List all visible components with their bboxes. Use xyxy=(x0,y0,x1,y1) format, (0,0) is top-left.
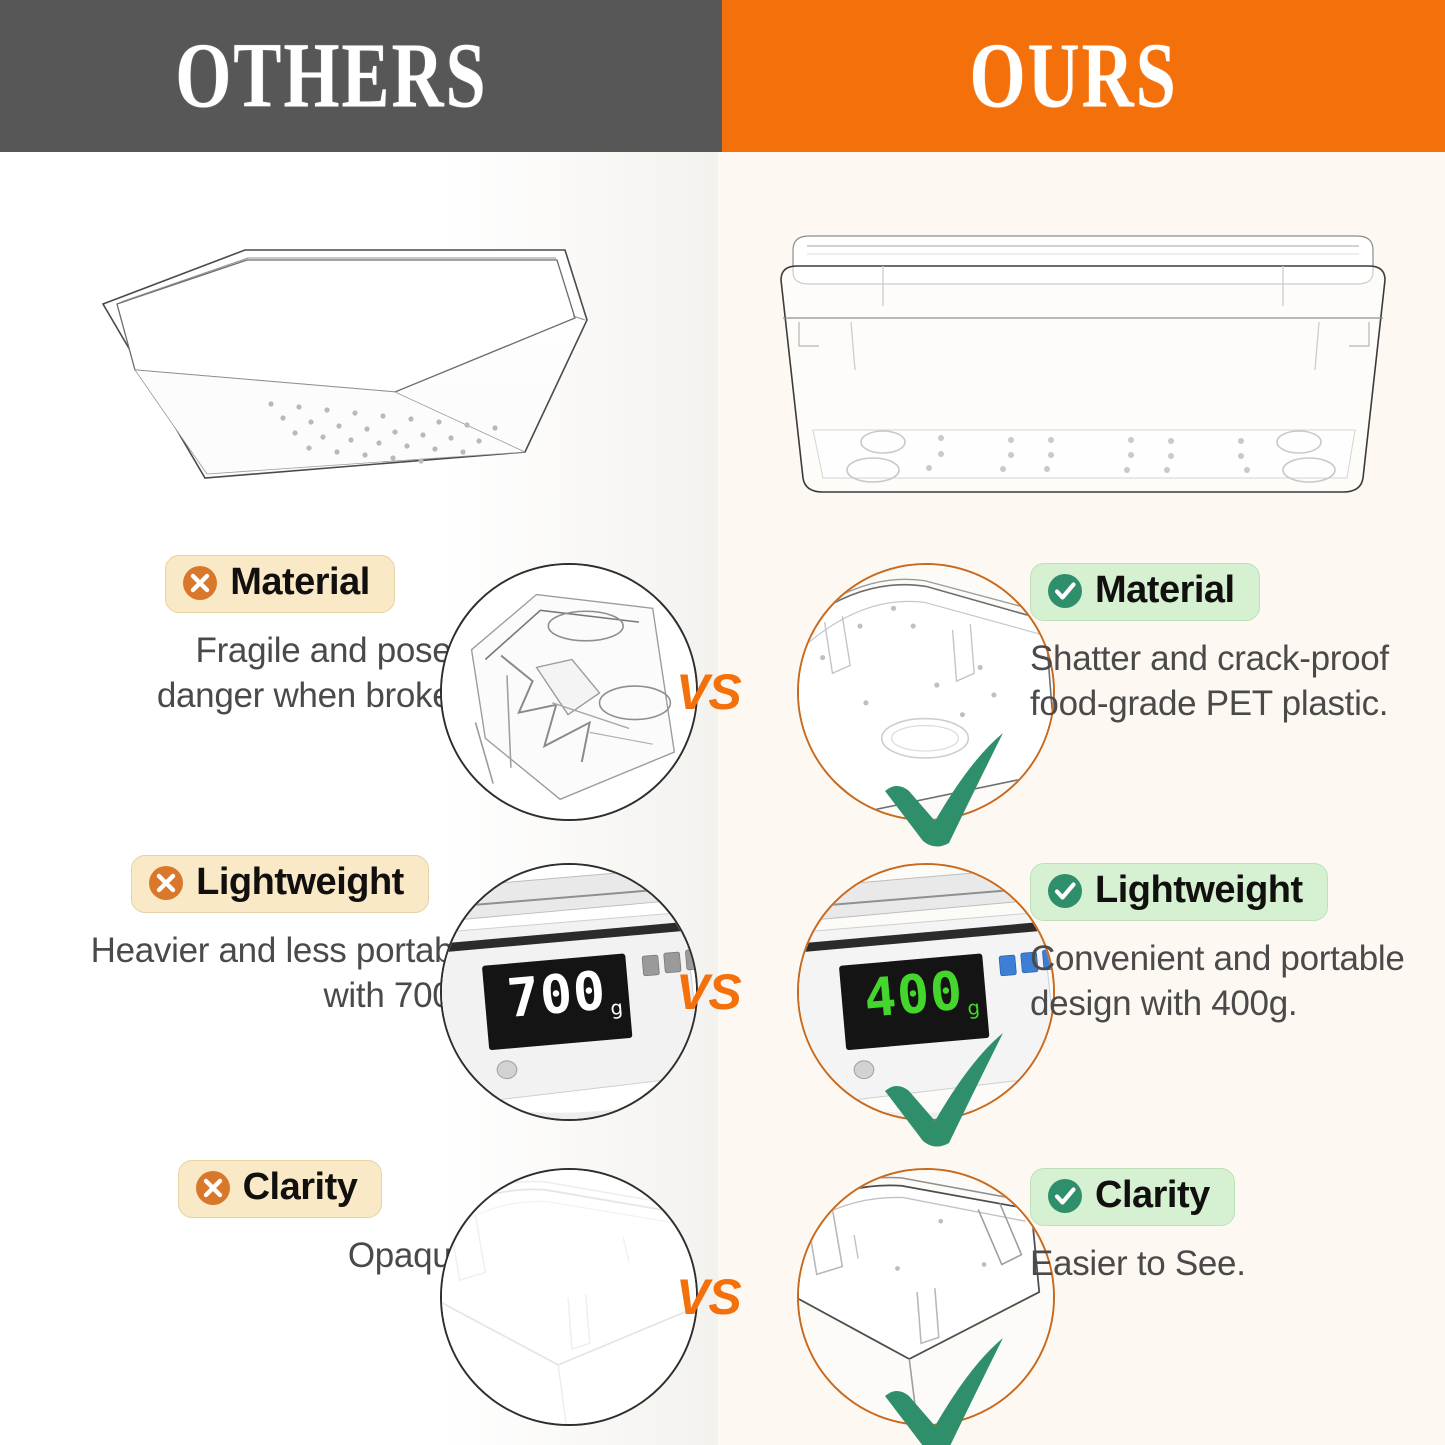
badge-material-good-label: Material xyxy=(1095,571,1235,611)
badge-clarity-bad: Clarity xyxy=(178,1160,383,1218)
badge-clarity-good-label: Clarity xyxy=(1095,1176,1210,1216)
badge-material-bad-label: Material xyxy=(230,563,370,603)
row-lightweight-right-description: Convenient and portable design with 400g… xyxy=(1030,937,1430,1027)
row-clarity-right-text: Clarity Easier to See. xyxy=(1030,1168,1430,1287)
photo-lightweight-ours-clip: 400 g xyxy=(797,863,1055,1121)
check-circle-icon xyxy=(1047,573,1083,609)
x-circle-icon xyxy=(195,1170,231,1206)
photo-clarity-others-clip xyxy=(440,1168,698,1426)
scale-reading-others: 700 xyxy=(505,960,609,1030)
badge-lightweight-bad-label: Lightweight xyxy=(196,863,404,903)
row-material-right-description: Shatter and crack-proof food-grade PET p… xyxy=(1030,637,1430,727)
badge-material-good: Material xyxy=(1030,563,1260,621)
scale-unit-others: g xyxy=(609,996,623,1020)
photo-clarity-ours xyxy=(797,1168,1055,1426)
row-lightweight-left-description: Heavier and less portable with 700g. xyxy=(80,929,480,1019)
badge-material-bad: Material xyxy=(165,555,395,613)
photo-clarity-others xyxy=(440,1168,698,1426)
row-material-right-text: Material Shatter and crack-proof food-gr… xyxy=(1030,563,1430,726)
hero-right xyxy=(718,152,1445,552)
intact-bin-corner-illustration xyxy=(799,565,1053,819)
photo-lightweight-ours: 400 g xyxy=(797,863,1055,1121)
row-material-left-text: Material Fragile and pose a danger when … xyxy=(80,555,480,718)
photo-material-ours xyxy=(797,563,1055,821)
vs-label-lightweight: VS xyxy=(676,963,741,1021)
badge-lightweight-good: Lightweight xyxy=(1030,863,1328,921)
row-clarity-right-description: Easier to See. xyxy=(1030,1242,1430,1287)
header-others-title: OTHERS xyxy=(175,30,487,123)
photo-material-others-clip xyxy=(440,563,698,821)
scale-ours-illustration: 400 g xyxy=(799,865,1053,1119)
product-image-ours xyxy=(763,222,1403,512)
scale-reading-ours: 400 xyxy=(862,960,966,1030)
photo-lightweight-others: 700 g xyxy=(440,863,698,1121)
x-circle-icon xyxy=(148,865,184,901)
check-circle-icon xyxy=(1047,873,1083,909)
badge-clarity-good: Clarity xyxy=(1030,1168,1235,1226)
broken-bin-illustration xyxy=(442,565,696,819)
x-circle-icon xyxy=(182,565,218,601)
photo-material-ours-clip xyxy=(797,563,1055,821)
header-ours: OURS xyxy=(722,0,1445,152)
row-lightweight-left-text: Lightweight Heavier and less portable wi… xyxy=(80,855,480,1018)
scale-others-illustration: 700 g xyxy=(442,865,696,1119)
row-material-left-description: Fragile and pose a danger when broken. xyxy=(80,629,480,719)
row-lightweight-right-text: Lightweight Convenient and portable desi… xyxy=(1030,863,1430,1026)
check-circle-icon xyxy=(1047,1178,1083,1214)
badge-clarity-bad-label: Clarity xyxy=(243,1168,358,1208)
hero-left xyxy=(0,152,718,552)
vs-label-material: VS xyxy=(676,663,741,721)
badge-lightweight-bad: Lightweight xyxy=(131,855,429,913)
header-ours-title: OURS xyxy=(969,30,1177,123)
scale-unit-ours: g xyxy=(966,996,980,1020)
photo-lightweight-others-clip: 700 g xyxy=(440,863,698,1121)
comparison-infographic: OTHERS OURS xyxy=(0,0,1445,1445)
header-others: OTHERS xyxy=(0,0,722,152)
row-clarity-left-description: Opaque. xyxy=(80,1234,480,1279)
photo-clarity-ours-clip xyxy=(797,1168,1055,1426)
vs-label-clarity: VS xyxy=(676,1268,741,1326)
row-clarity-left-text: Clarity Opaque. xyxy=(80,1160,480,1279)
product-image-others xyxy=(95,242,595,502)
badge-lightweight-good-label: Lightweight xyxy=(1095,871,1303,911)
header-bar: OTHERS OURS xyxy=(0,0,1445,152)
opaque-bin-illustration xyxy=(442,1170,696,1424)
photo-material-others xyxy=(440,563,698,821)
transparent-bin-illustration xyxy=(799,1170,1053,1424)
